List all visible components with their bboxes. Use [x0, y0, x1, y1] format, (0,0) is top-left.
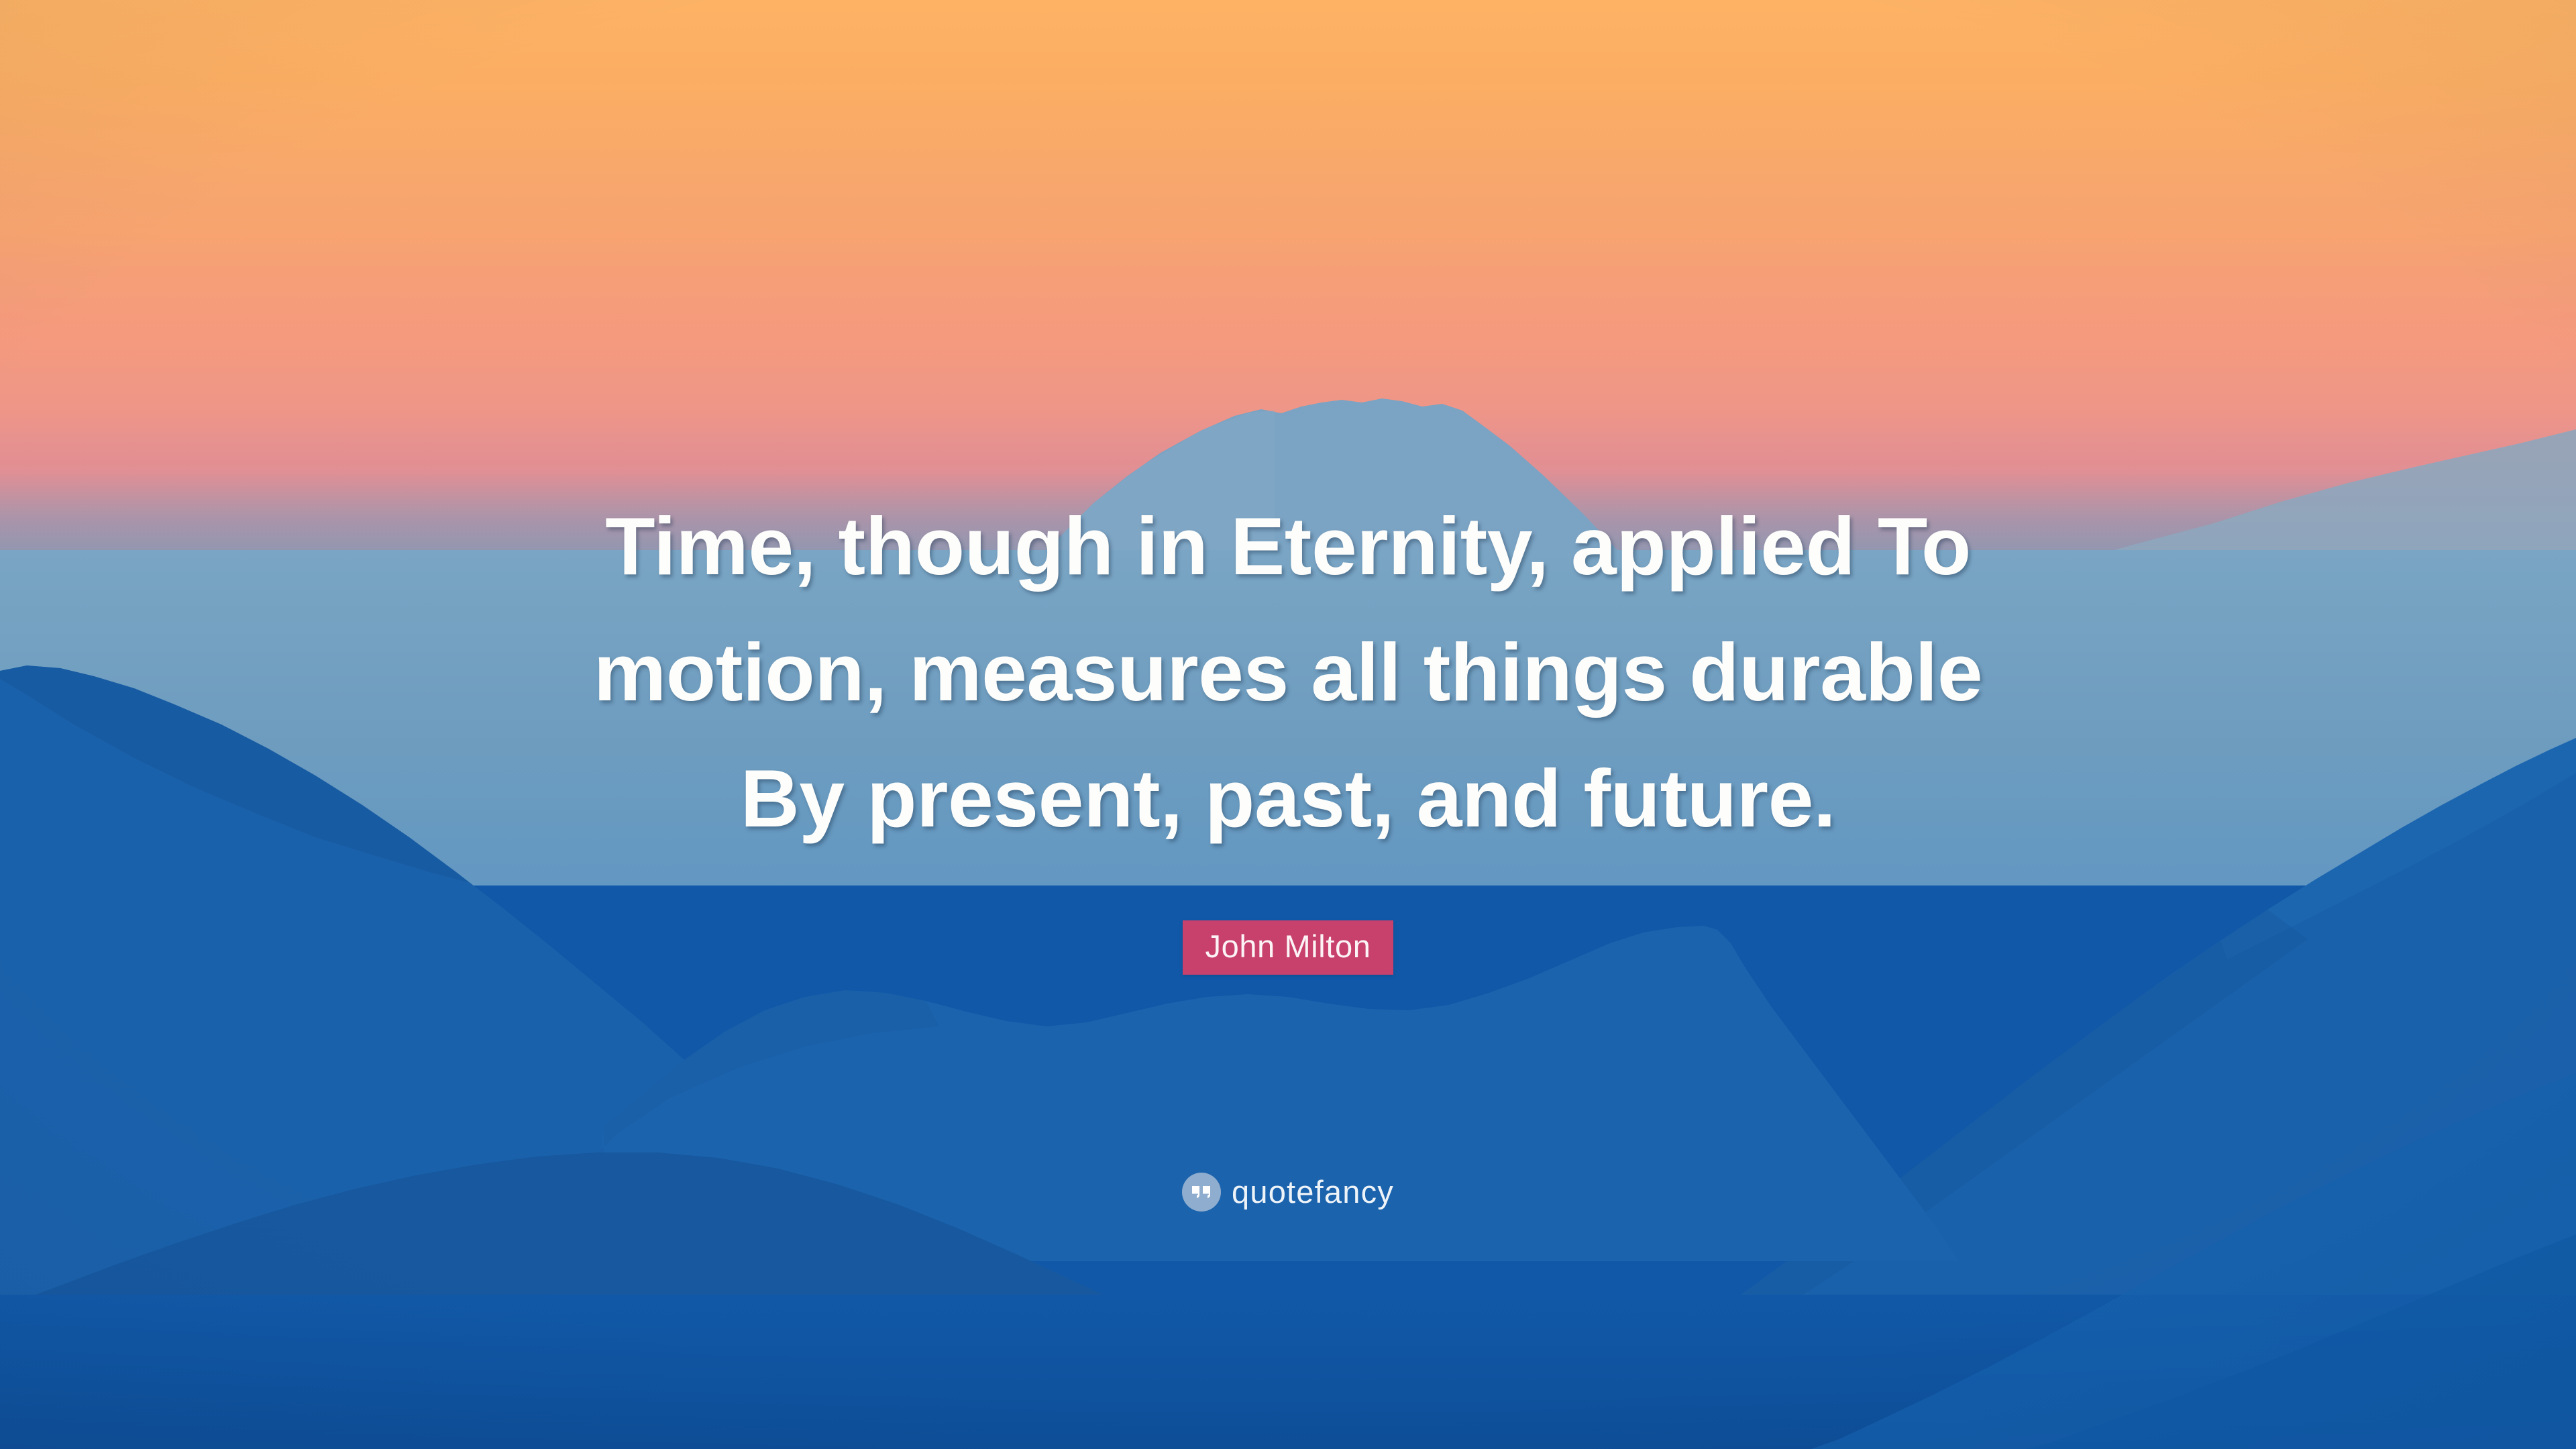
quotefancy-logo-text: quotefancy [1232, 1175, 1394, 1210]
quote-text-block: Time, though in Eternity, applied To mot… [0, 483, 2576, 861]
quote-wallpaper: Time, though in Eternity, applied To mot… [0, 0, 2576, 1449]
author-name-badge: John Milton [1183, 920, 1394, 975]
quote-line-2: motion, measures all things durable [0, 609, 2576, 735]
quotefancy-watermark[interactable]: quotefancy [0, 1173, 2576, 1212]
quote-line-1: Time, though in Eternity, applied To [0, 483, 2576, 609]
quote-marks-icon [1182, 1173, 1221, 1212]
right-foreground-slope-layer [0, 1033, 2576, 1449]
quote-line-3: By present, past, and future. [0, 735, 2576, 861]
author-attribution: John Milton [0, 920, 2576, 975]
